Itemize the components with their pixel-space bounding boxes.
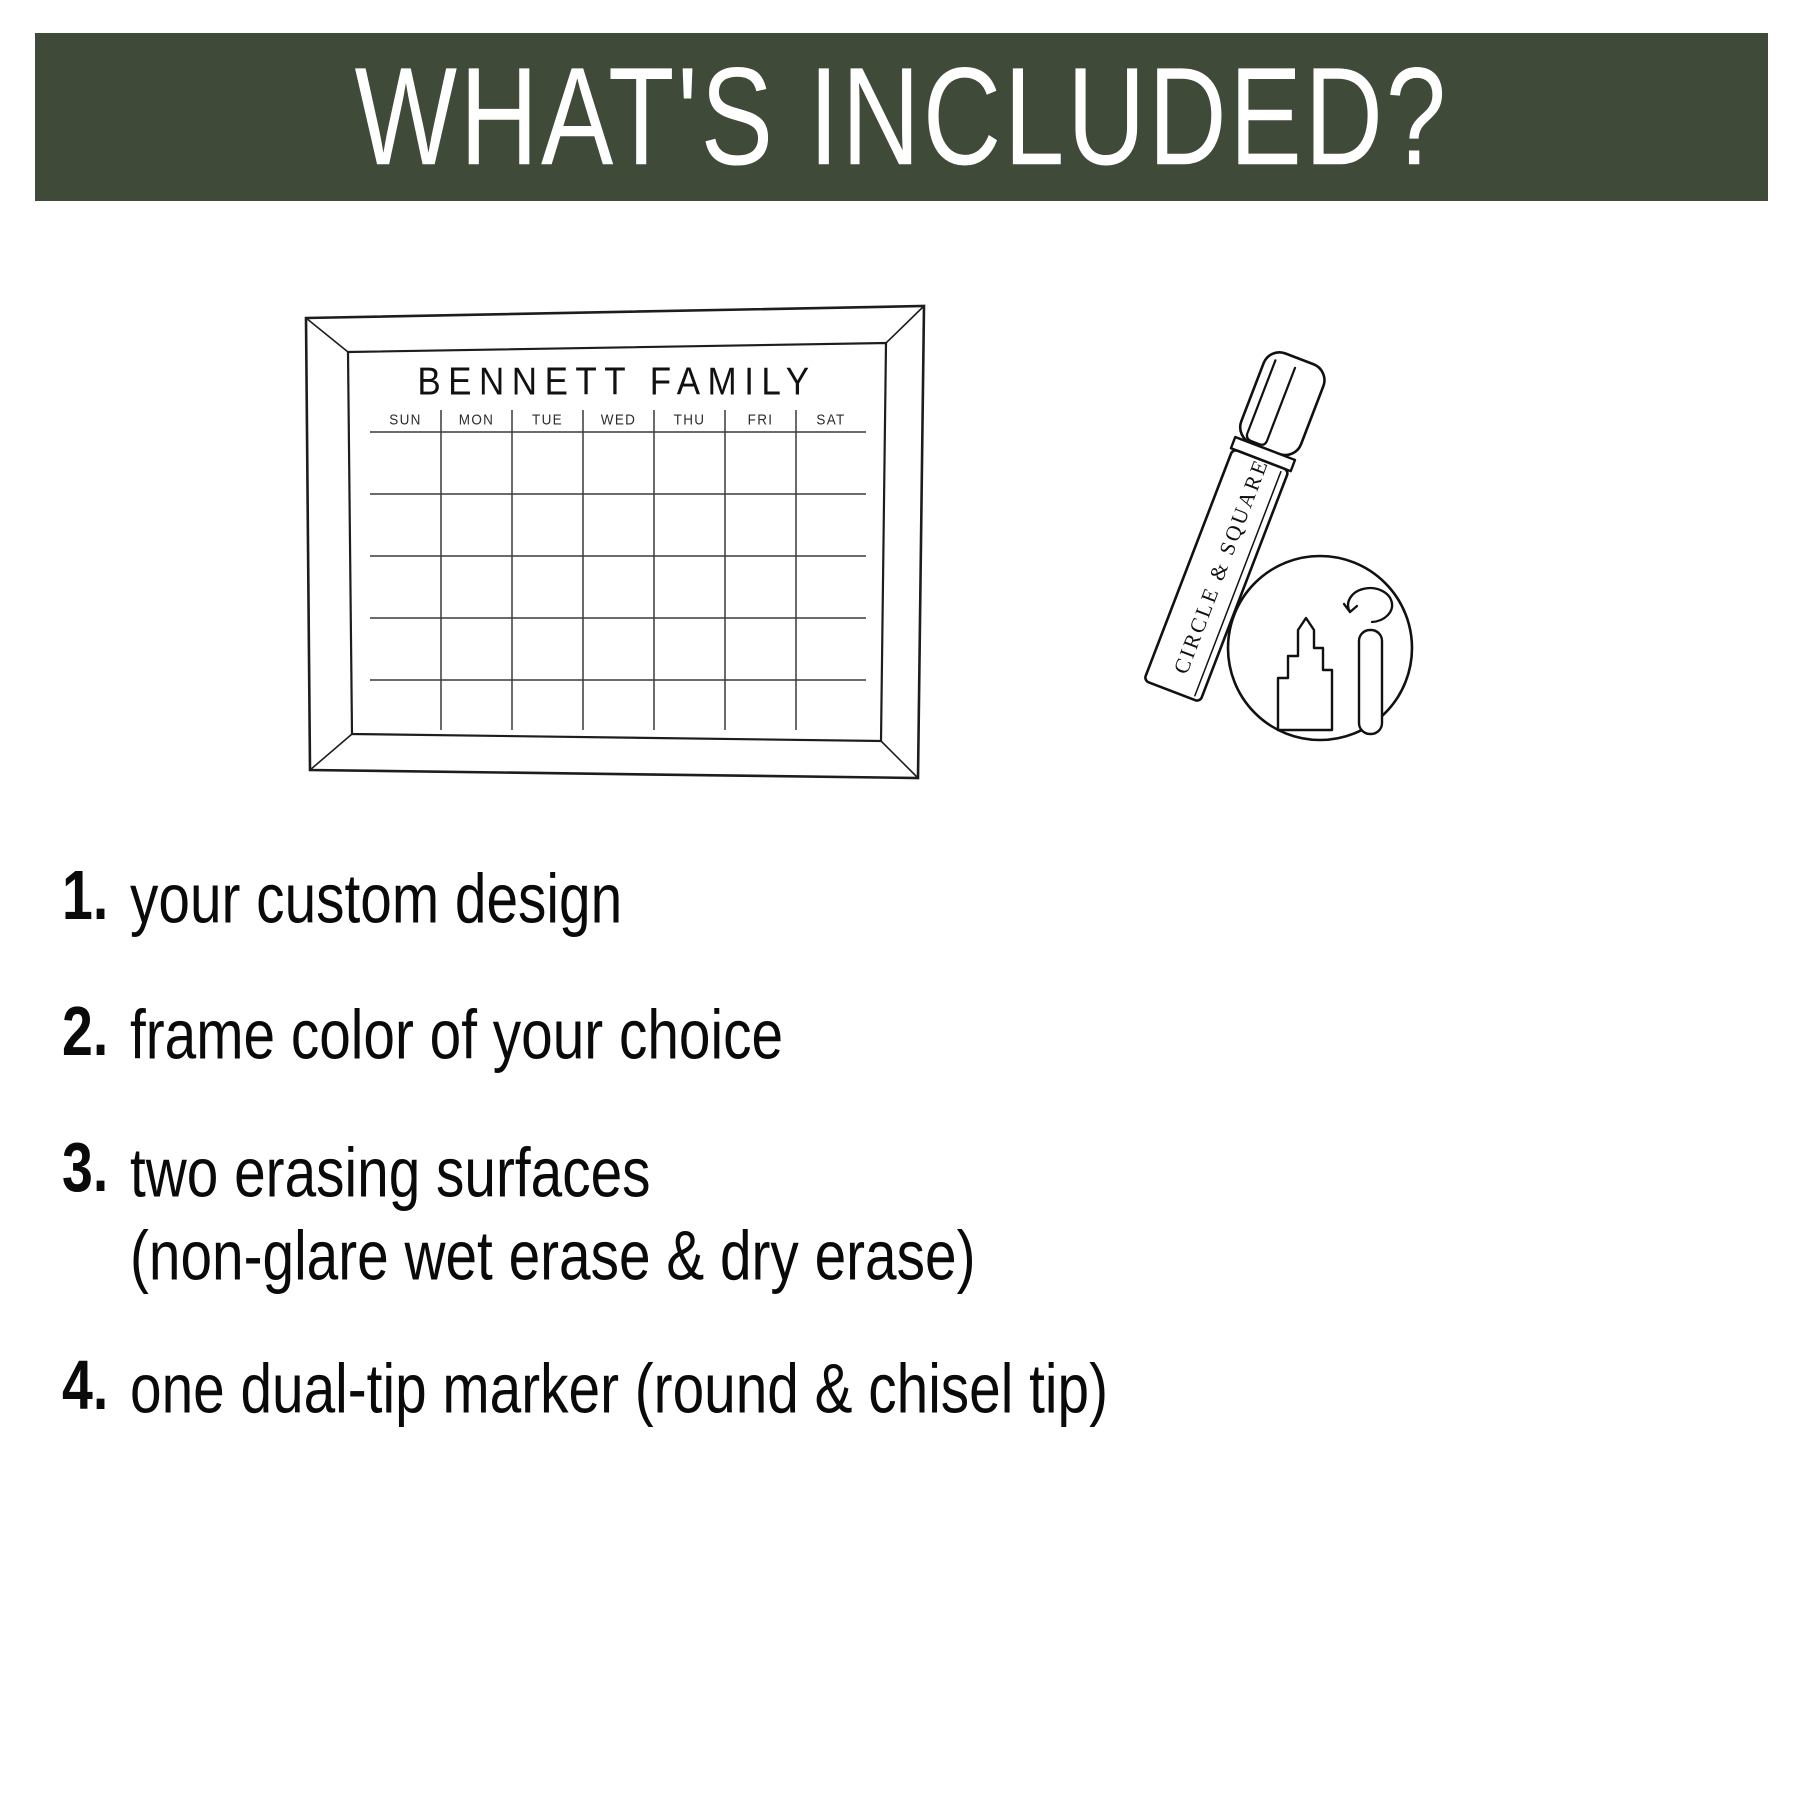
product-illustration-area: BENNETT FAMILY SUN MON TUE WED THU FRI S… (0, 230, 1800, 850)
list-item: 2. frame color of your choice (62, 996, 1752, 1070)
calendar-illustration: BENNETT FAMILY SUN MON TUE WED THU FRI S… (300, 300, 930, 790)
list-item-text: frame color of your choice (130, 996, 1525, 1074)
list-item-number: 4. (62, 1350, 124, 1419)
list-item: 1. your custom design (62, 860, 1752, 934)
list-item-text: your custom design (130, 860, 1525, 938)
list-item-number: 2. (62, 996, 124, 1065)
list-item-text: one dual-tip marker (round & chisel tip) (130, 1350, 1525, 1428)
marker-illustration: CIRCLE & SQUARE (1020, 330, 1440, 750)
round-tip-icon (1359, 630, 1382, 734)
page-title: WHAT'S INCLUDED? (354, 47, 1448, 186)
list-item-number: 3. (62, 1132, 124, 1201)
list-item: 3. two erasing surfaces (non-glare wet e… (62, 1132, 1752, 1288)
calendar-frame-drawing (300, 300, 930, 790)
list-item-text: two erasing surfaces (non-glare wet eras… (130, 1132, 1525, 1297)
list-item: 4. one dual-tip marker (round & chisel t… (62, 1350, 1752, 1424)
list-item-number: 1. (62, 860, 124, 929)
included-items-list: 1. your custom design 2. frame color of … (62, 860, 1752, 1423)
header-banner: WHAT'S INCLUDED? (35, 33, 1768, 201)
marker-drawing: CIRCLE & SQUARE (1020, 330, 1440, 750)
